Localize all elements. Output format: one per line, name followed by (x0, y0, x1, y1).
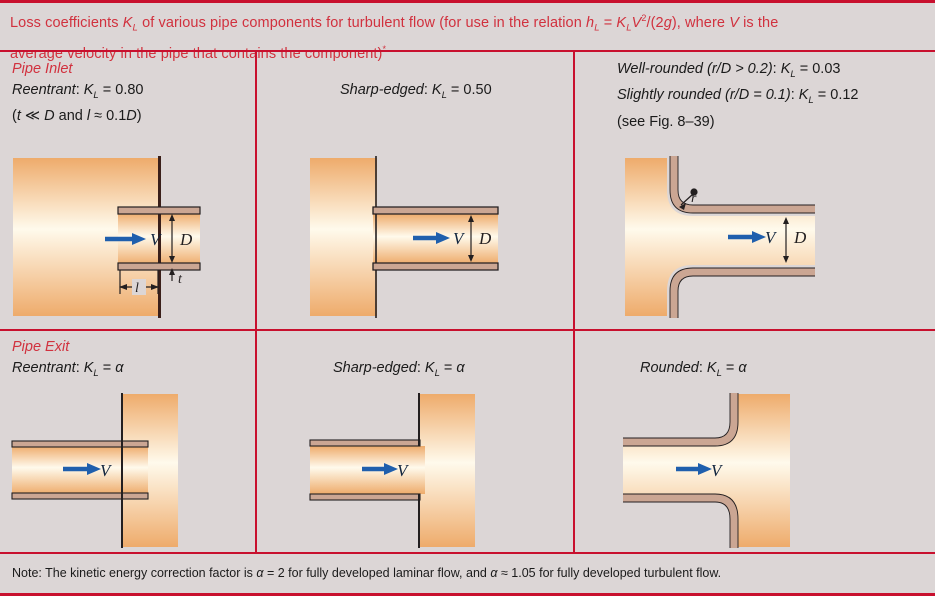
caption-text-c: is the (739, 15, 778, 31)
caption-KL: K (616, 15, 626, 31)
radius-label: r (691, 191, 697, 206)
caption-text-a: Loss coefficients (10, 15, 123, 31)
exit-sharp-edged-kl: α (456, 360, 464, 376)
inlet-rounded-reference: (see Fig. 8–39) (617, 114, 715, 130)
inlet-well-rounded-kl: 0.03 (812, 61, 840, 77)
pipe-wall-bottom (373, 263, 498, 270)
diameter-label: D (478, 229, 492, 248)
thickness-label: t (178, 272, 183, 287)
inlet-reentrant-label: Reentrant: KL = 0.80 (12, 82, 143, 98)
pipe-wall-top (118, 207, 200, 214)
row-divider-rule (0, 329, 935, 331)
figure-inlet-rounded: r V D (575, 148, 935, 328)
figure-exit-sharp-edged: V (255, 388, 573, 553)
caption-asterisk: * (382, 44, 386, 54)
pipe-wall-top (12, 441, 148, 447)
rounded-wall-top-outer-edge (623, 393, 730, 438)
exit-sharp-edged-label: Sharp-edged: KL = α (333, 358, 465, 384)
inlet-sharp-edged-label: Sharp-edged: KL = 0.50 (340, 80, 492, 106)
rounded-wall-bottom-outer-edge (678, 276, 815, 318)
table-caption: Loss coefficients KL of various pipe com… (10, 8, 925, 65)
pipe-wall-top (310, 440, 420, 446)
pipe-wall-top (373, 207, 498, 214)
caption-V2: V (632, 15, 642, 31)
inlet-well-rounded-type: Well-rounded (r/D > 0.2) (617, 61, 773, 77)
exit-rounded-kl: α (738, 360, 746, 376)
loss-coefficient-table: Loss coefficients KL of various pipe com… (0, 0, 935, 596)
diameter-label: D (793, 228, 807, 247)
rounded-wall-bottom-outer-edge (623, 502, 730, 548)
exit-reentrant-kl: α (115, 360, 123, 376)
exit-rounded-label: Rounded: KL = α (640, 358, 747, 384)
exit-rounded-type: Rounded (640, 360, 699, 376)
caption-h: h (586, 15, 594, 31)
caption-g: g (664, 15, 672, 31)
rounded-wall-top (623, 393, 734, 442)
inlet-sharp-edged-type: Sharp-edged (340, 82, 424, 98)
inlet-well-rounded-line: Well-rounded (r/D > 0.2): KL = 0.03 (617, 61, 840, 77)
pipe-wall-bottom (310, 494, 420, 500)
inlet-slightly-rounded-line: Slightly rounded (r/D = 0.1): KL = 0.12 (617, 87, 858, 103)
inlet-reentrant-kl: 0.80 (115, 82, 143, 98)
inlet-reentrant-type: Reentrant (12, 82, 76, 98)
figure-inlet-reentrant: V D t l (0, 148, 255, 328)
rounded-wall-bottom (623, 498, 734, 548)
exit-reentrant-label: Reentrant: KL = α (12, 360, 124, 376)
inlet-rounded-label: Well-rounded (r/D > 0.2): KL = 0.03 Slig… (617, 59, 858, 132)
inlet-slightly-rounded-type: Slightly rounded (r/D = 0.1) (617, 87, 791, 103)
inlet-reentrant-condition: (t ≪ D and l ≈ 0.1D) (12, 108, 142, 124)
row-label-pipe-exit: Pipe Exit Reentrant: KL = α (12, 337, 124, 384)
caption-V: V (729, 15, 739, 31)
rounded-wall-bottom (674, 272, 815, 318)
length-label: l (135, 281, 139, 296)
footnote-mid-2: ≈ 1.05 for fully developed turbulent flo… (497, 566, 721, 580)
rounded-wall-top-outer-edge (678, 156, 815, 205)
inlet-sharp-edged-kl: 0.50 (463, 82, 491, 98)
caption-text-b: of various pipe components for turbulent… (138, 15, 586, 31)
footnote-mid-1: = 2 for fully developed laminar flow, an… (263, 566, 490, 580)
figure-exit-rounded: V (575, 388, 935, 553)
inlet-slightly-rounded-kl: 0.12 (830, 87, 858, 103)
row-label-pipe-exit-text: Pipe Exit (12, 339, 69, 355)
reservoir-fluid (310, 158, 377, 316)
caption-close: ), where (672, 15, 729, 31)
reservoir-fluid (420, 394, 475, 547)
table-footnote: Note: The kinetic energy correction fact… (12, 566, 922, 580)
caption-K: K (123, 15, 133, 31)
row-label-pipe-inlet-text: Pipe Inlet (12, 61, 72, 77)
row-label-pipe-inlet: Pipe Inlet Reentrant: KL = 0.80 (t ≪ D a… (12, 59, 143, 126)
exit-sharp-edged-type: Sharp-edged (333, 360, 417, 376)
header-rule (0, 50, 935, 52)
pipe-wall-bottom (118, 263, 200, 270)
caption-eq: = (600, 15, 617, 31)
caption-divide: /(2 (646, 15, 663, 31)
diameter-label: D (179, 230, 193, 249)
pipe-wall-bottom (12, 493, 148, 499)
exit-reentrant-type: Reentrant (12, 360, 76, 376)
figure-exit-reentrant: V (0, 388, 255, 553)
figure-inlet-sharp-edged: V D (255, 148, 573, 328)
footnote-prefix: Note: The kinetic energy correction fact… (12, 566, 256, 580)
